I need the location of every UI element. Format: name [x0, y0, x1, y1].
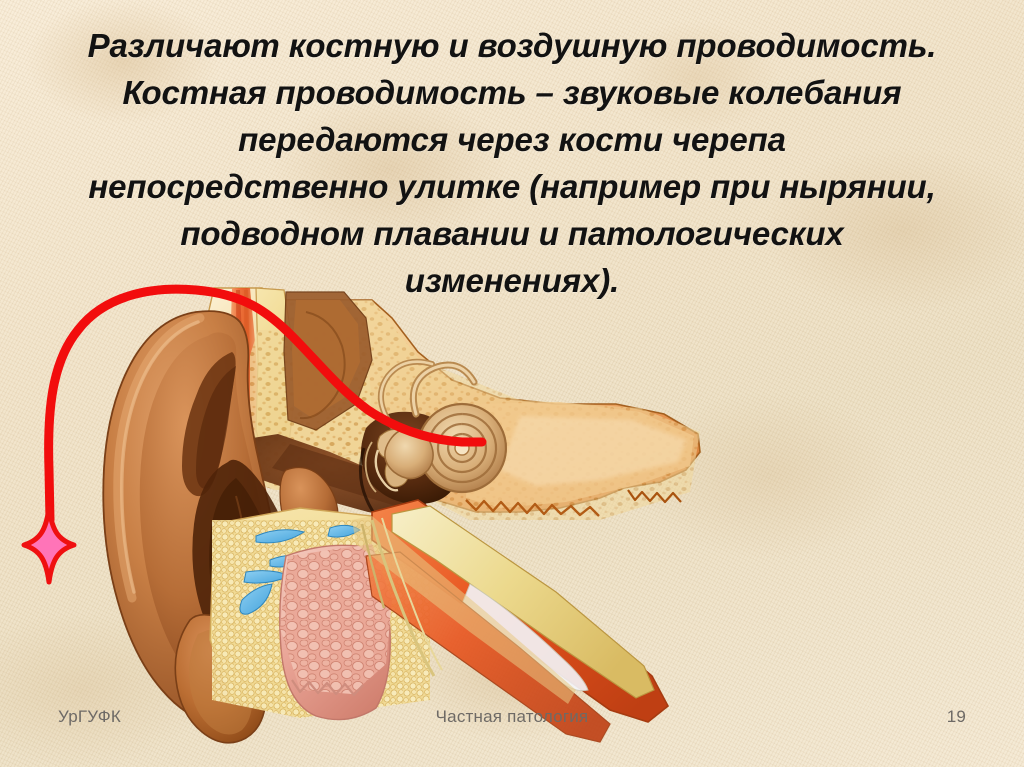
blue-vessel [244, 571, 290, 583]
ossicles [366, 429, 421, 492]
cochlea [381, 362, 506, 492]
blue-vessel [288, 593, 314, 606]
blue-vessel [256, 530, 304, 543]
external-ear-canal [236, 434, 430, 520]
tympanic-cavity [360, 412, 460, 526]
auricle [103, 311, 338, 743]
upper-connective-bone [284, 292, 372, 430]
slide-canvas: Различают костную и воздушную проводимос… [0, 0, 1024, 767]
parotid-gland [276, 540, 406, 720]
page-title: Различают костную и воздушную проводимос… [0, 22, 1024, 304]
blue-vessel [270, 555, 306, 567]
slide-number: 19 [0, 707, 1024, 727]
temporal-bone-group [230, 296, 710, 526]
eustachian-tube [352, 500, 668, 742]
blue-vessel [206, 447, 254, 457]
blue-vessel [328, 525, 360, 537]
blue-vessel [240, 584, 272, 614]
sound-source-star [24, 508, 74, 582]
blue-vessel [192, 370, 204, 454]
mastoid-bone-block [192, 288, 380, 490]
bone-conduction-arrow [49, 289, 482, 520]
lower-temporal-bone [205, 500, 445, 730]
